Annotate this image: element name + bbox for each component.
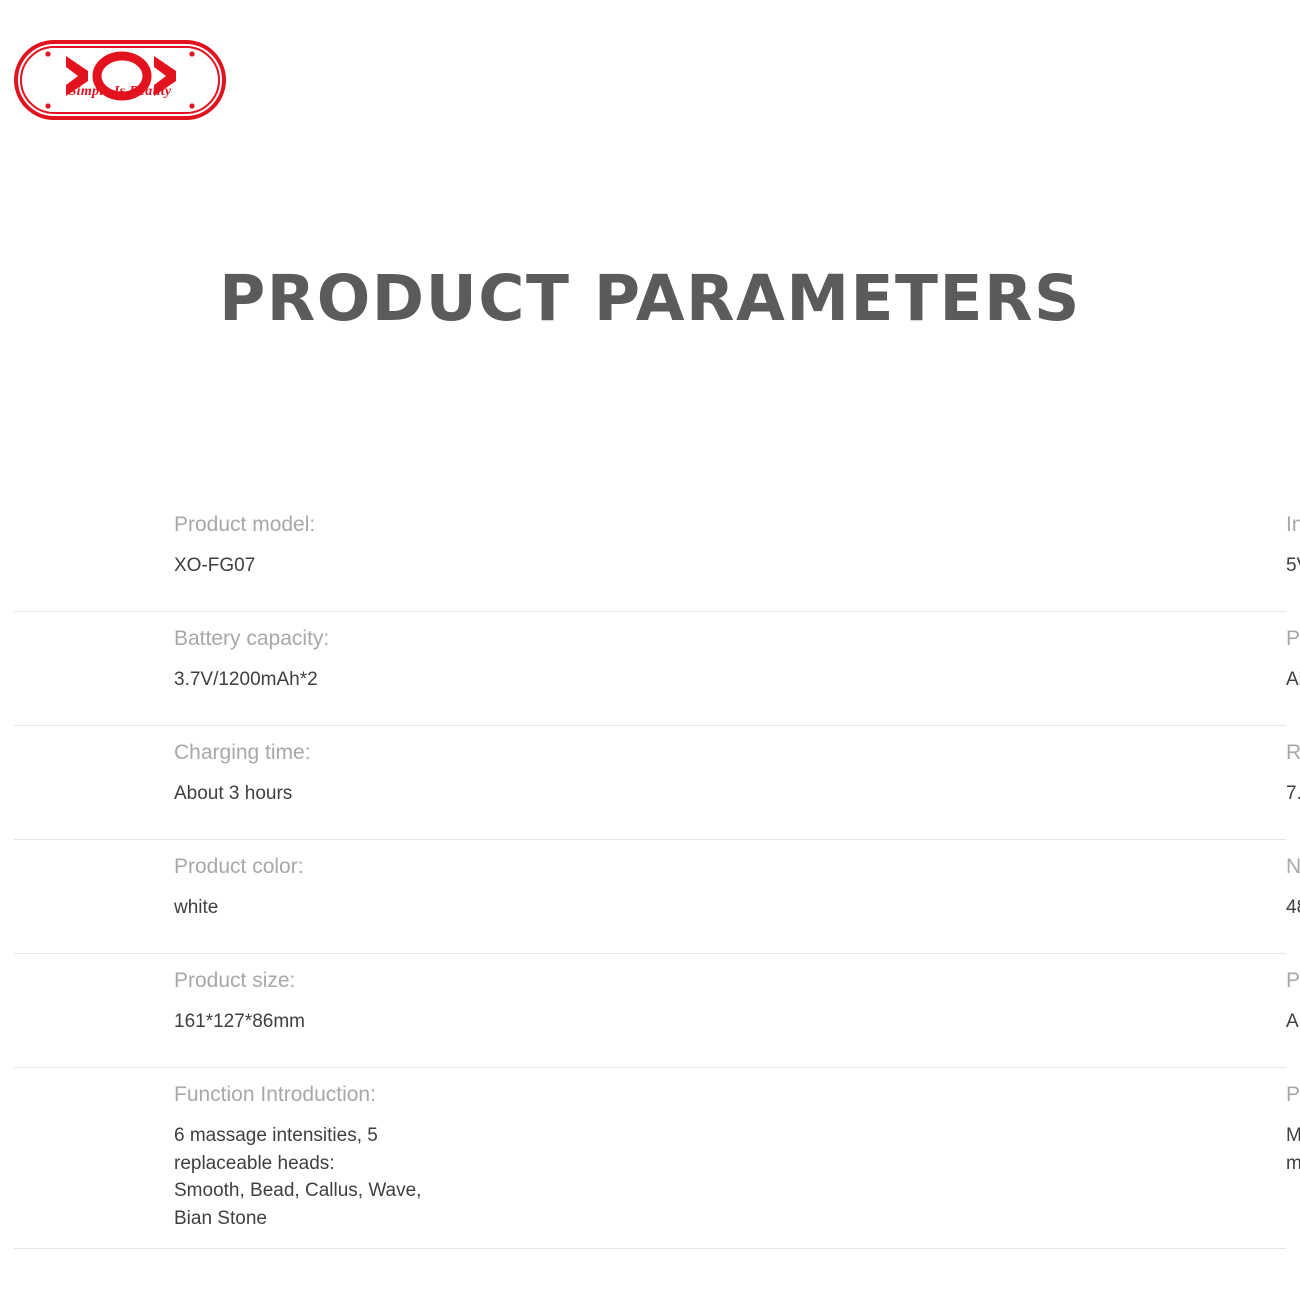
table-row: Product color: white Net weight of produ… [14,840,1286,954]
spec-label: Function Introduction: [174,1082,446,1108]
spec-label: Charging time: [174,740,446,766]
spec-cell-right: Input: 5V/2A [446,498,1286,611]
spec-value: XO-FG07 [174,552,446,580]
spec-value: white [174,894,446,922]
spec-cell-right: Product accessories: Machine+charging ca… [446,1068,1286,1248]
spec-cell-right: Product size: ABS [446,954,1286,1067]
spec-cell-left: Function Introduction: 6 massage intensi… [14,1068,446,1248]
xo-brand-logo: Simple Is Beauty [14,40,226,120]
spec-value: About 2 hours (lowest gear) [1286,666,1300,694]
spec-cell-left: Charging time: About 3 hours [14,726,446,839]
table-row: Product model: XO-FG07 Input: 5V/2A [14,498,1286,612]
spec-value: About 3 hours [174,780,446,808]
spec-label: Rated power/voltage: [1286,740,1300,766]
table-row: Product size: 161*127*86mm Product size:… [14,954,1286,1068]
spec-cell-right: Rated power/voltage: 7.4V/24W [446,726,1286,839]
spec-table: Product model: XO-FG07 Input: 5V/2A Batt… [14,498,1286,1249]
spec-label: Product size: [1286,968,1300,994]
spec-value: ABS [1286,1008,1300,1036]
spec-cell-left: Product color: white [14,840,446,953]
spec-value: 3.7V/1200mAh*2 [174,666,446,694]
page-title: PRODUCT PARAMETERS [0,262,1300,335]
spec-value: 487g [1286,894,1300,922]
spec-cell-left: Product model: XO-FG07 [14,498,446,611]
spec-cell-left: Product size: 161*127*86mm [14,954,446,1067]
spec-value: 5V/2A [1286,552,1300,580]
xo-mark-icon [14,40,226,120]
spec-label: Product battery life: [1286,626,1300,652]
spec-value: 7.4V/24W [1286,780,1300,808]
table-row: Function Introduction: 6 massage intensi… [14,1068,1286,1249]
spec-value: Machine+charging cable+instruction manua… [1286,1122,1300,1177]
spec-value: 6 massage intensities, 5 replaceable hea… [174,1122,446,1232]
logo-tagline: Simple Is Beauty [14,84,226,100]
spec-cell-right: Net weight of product: 487g [446,840,1286,953]
spec-label: Product color: [174,854,446,880]
spec-label: Input: [1286,512,1300,538]
table-row: Charging time: About 3 hours Rated power… [14,726,1286,840]
spec-label: Product accessories: [1286,1082,1300,1108]
spec-label: Battery capacity: [174,626,446,652]
spec-cell-right: Product battery life: About 2 hours (low… [446,612,1286,725]
spec-value: 161*127*86mm [174,1008,446,1036]
spec-label: Product model: [174,512,446,538]
product-parameters-page: Simple Is Beauty PRODUCT PARAMETERS Prod… [0,0,1300,1300]
spec-label: Net weight of product: [1286,854,1300,880]
table-row: Battery capacity: 3.7V/1200mAh*2 Product… [14,612,1286,726]
spec-cell-left: Battery capacity: 3.7V/1200mAh*2 [14,612,446,725]
spec-label: Product size: [174,968,446,994]
